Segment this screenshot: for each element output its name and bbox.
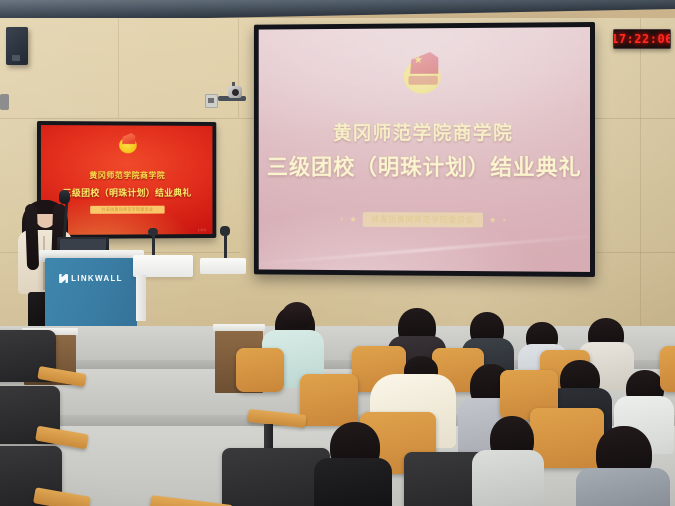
desk-top [213, 324, 265, 331]
auditorium-seat [0, 330, 56, 382]
wall-seam [596, 252, 675, 253]
ceiling-texture [0, 0, 675, 14]
lecture-hall-screenshot: 17:22:06 黄冈师范学院商学院 三级团校（明珠计划）结业典礼 ★ ★ 共青… [0, 0, 675, 506]
slide-title: 黄冈师范学院商学院 [259, 118, 590, 145]
star-icon: ★ [489, 216, 496, 225]
main-projection-screen: 黄冈师范学院商学院 三级团校（明珠计划）结业典礼 ★ ★ 共青团黄冈师范学院委员… [254, 22, 595, 277]
clock-time-display: 17:22:06 [613, 32, 671, 46]
auditorium-seat [0, 446, 62, 506]
slide-subtitle: 三级团校（明珠计划）结业典礼 [259, 150, 590, 182]
wall-seam [640, 18, 641, 348]
stage-console-desk [200, 258, 246, 274]
camera-lens-icon [231, 88, 240, 97]
podium-brand: LINKWALL [45, 274, 137, 283]
stage-console-desk [133, 255, 193, 277]
auditorium-seat [0, 386, 60, 444]
left-camera-mount [0, 94, 9, 110]
communist-youth-league-emblem-icon [117, 132, 139, 154]
wall-seam [118, 18, 119, 118]
star-icon: ★ [502, 217, 506, 223]
led-wall-clock: 17:22:06 [613, 29, 671, 49]
wall-seam [238, 18, 239, 118]
audience-seating-area [0, 300, 675, 506]
star-icon: ★ [340, 217, 344, 223]
microphone-head-icon [220, 226, 230, 236]
wall-control-panel[interactable] [205, 94, 218, 108]
auditorium-seat [660, 346, 675, 392]
microphone-head-icon [148, 228, 158, 236]
auditorium-seat [236, 348, 284, 392]
microphone-head-icon [59, 190, 70, 204]
linkwall-logo-icon [59, 274, 68, 283]
slide-organization-row: ★ ★ 共青团黄冈师范学院委员会 ★ ★ [259, 212, 590, 228]
side-slide-title: 黄冈师范学院商学院 [41, 170, 212, 181]
communist-youth-league-emblem-icon [399, 50, 446, 96]
wall-speaker [6, 27, 28, 65]
console-microphone [224, 232, 227, 260]
auditorium-seat [300, 374, 358, 426]
slide-organization: 共青团黄冈师范学院委员会 [362, 212, 483, 227]
podium-brand-label: LINKWALL [71, 274, 123, 283]
side-slide-organization: 共青团黄冈师范学院委员会 [90, 206, 165, 214]
side-screen-brand: LED [198, 227, 207, 232]
star-icon: ★ [350, 215, 357, 224]
